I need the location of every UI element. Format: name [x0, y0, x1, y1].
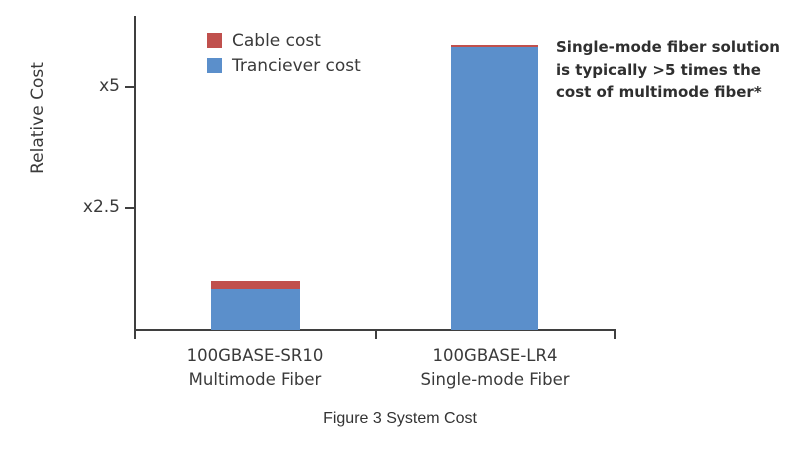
y-axis-title: Relative Cost	[28, 38, 48, 198]
legend-item-tranciever-cost: Tranciever cost	[207, 53, 361, 78]
chart-annotation-line-3: cost of multimode fiber*	[556, 81, 791, 104]
x-axis-category-label-1: 100GBASE-SR10 Multimode Fiber	[135, 344, 375, 392]
figure-system-cost: Relative Cost x5x2.5 Cable cost Tranciev…	[0, 0, 800, 461]
figure-caption: Figure 3 System Cost	[0, 410, 800, 428]
x-axis-tick-middle	[375, 329, 377, 339]
legend-swatch-icon-tranciever-cost	[207, 58, 222, 73]
bar-column-2[interactable]	[451, 45, 538, 330]
chart-annotation: Single-mode fiber solution is typically …	[556, 36, 791, 104]
bar-segment-1-cable-cost[interactable]	[211, 281, 300, 289]
y-axis-tick-label-0: x5	[99, 76, 120, 96]
bar-segment-2-tranciever-cost[interactable]	[451, 47, 538, 330]
x-axis-category-label-2-line-1: 100GBASE-LR4	[375, 344, 615, 368]
x-axis-category-label-2-line-2: Single-mode Fiber	[375, 368, 615, 392]
bar-segment-1-tranciever-cost[interactable]	[211, 289, 300, 330]
chart-annotation-line-1: Single-mode fiber solution	[556, 36, 791, 59]
x-axis-category-label-1-line-1: 100GBASE-SR10	[135, 344, 375, 368]
y-axis-tick-mark-1	[125, 207, 134, 209]
y-axis-tick-label-1: x2.5	[83, 197, 120, 217]
legend-label-cable-cost: Cable cost	[232, 31, 321, 51]
chart-annotation-line-2: is typically >5 times the	[556, 59, 791, 82]
legend-item-cable-cost: Cable cost	[207, 28, 361, 53]
x-axis-tick-start	[134, 329, 136, 339]
bar-column-1[interactable]	[211, 281, 300, 330]
legend-label-tranciever-cost: Tranciever cost	[232, 56, 361, 76]
legend-swatch-icon-cable-cost	[207, 33, 222, 48]
x-axis-category-label-2: 100GBASE-LR4 Single-mode Fiber	[375, 344, 615, 392]
y-axis-tick-mark-0	[125, 86, 134, 88]
x-axis-tick-end	[614, 329, 616, 339]
legend: Cable cost Tranciever cost	[207, 28, 361, 78]
x-axis-category-label-1-line-2: Multimode Fiber	[135, 368, 375, 392]
